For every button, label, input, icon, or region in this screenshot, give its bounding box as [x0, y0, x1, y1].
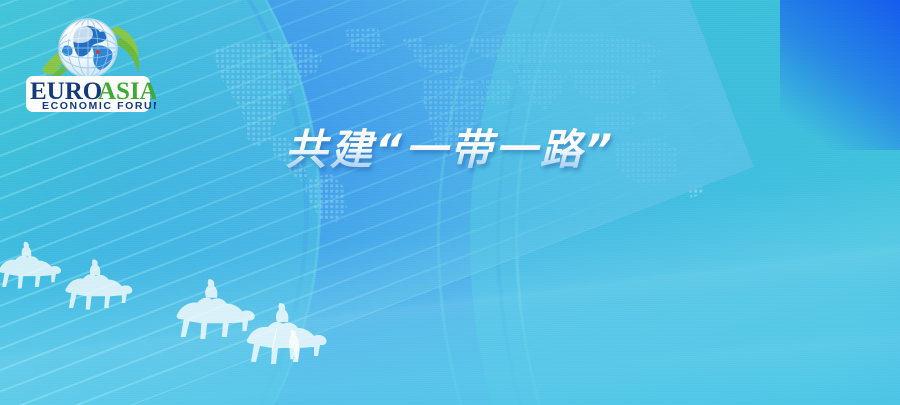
background-wash-bottom [0, 154, 900, 405]
belt-and-road-banner: 共建“一带一路” [0, 0, 900, 405]
decorative-arc-right-line-cyan [515, 0, 900, 405]
camel-with-rider-2 [65, 259, 132, 309]
globe-icon [59, 19, 117, 77]
location-dot-icon [96, 50, 100, 54]
camel-with-rider-1 [0, 242, 61, 289]
decorative-arc-right-outer-line [437, 0, 900, 405]
page-title: 共建“一带一路” [285, 126, 615, 173]
decorative-sweep-band [0, 157, 900, 405]
decorative-sweep-band-lower [0, 268, 900, 405]
logo-text-forum: ECONOMIC FORUM [42, 100, 156, 112]
decorative-corner-dark-blue [780, 0, 900, 150]
herder-figure [271, 328, 298, 359]
decorative-arc-right-line-blue [496, 0, 900, 405]
title-container: 共建“一带一路” [0, 126, 900, 173]
euro-asia-economic-forum-logo[interactable]: EURO ASIA ECONOMIC FORUM [20, 12, 156, 116]
dotted-world-map [195, 18, 715, 223]
background-wash-top-right [540, 0, 900, 223]
logo-wordmark: EURO ASIA ECONOMIC FORUM [26, 76, 156, 112]
camel-with-rider-4 [247, 303, 327, 364]
decorative-arc-right [470, 0, 900, 405]
camel-with-rider-3 [177, 279, 255, 339]
